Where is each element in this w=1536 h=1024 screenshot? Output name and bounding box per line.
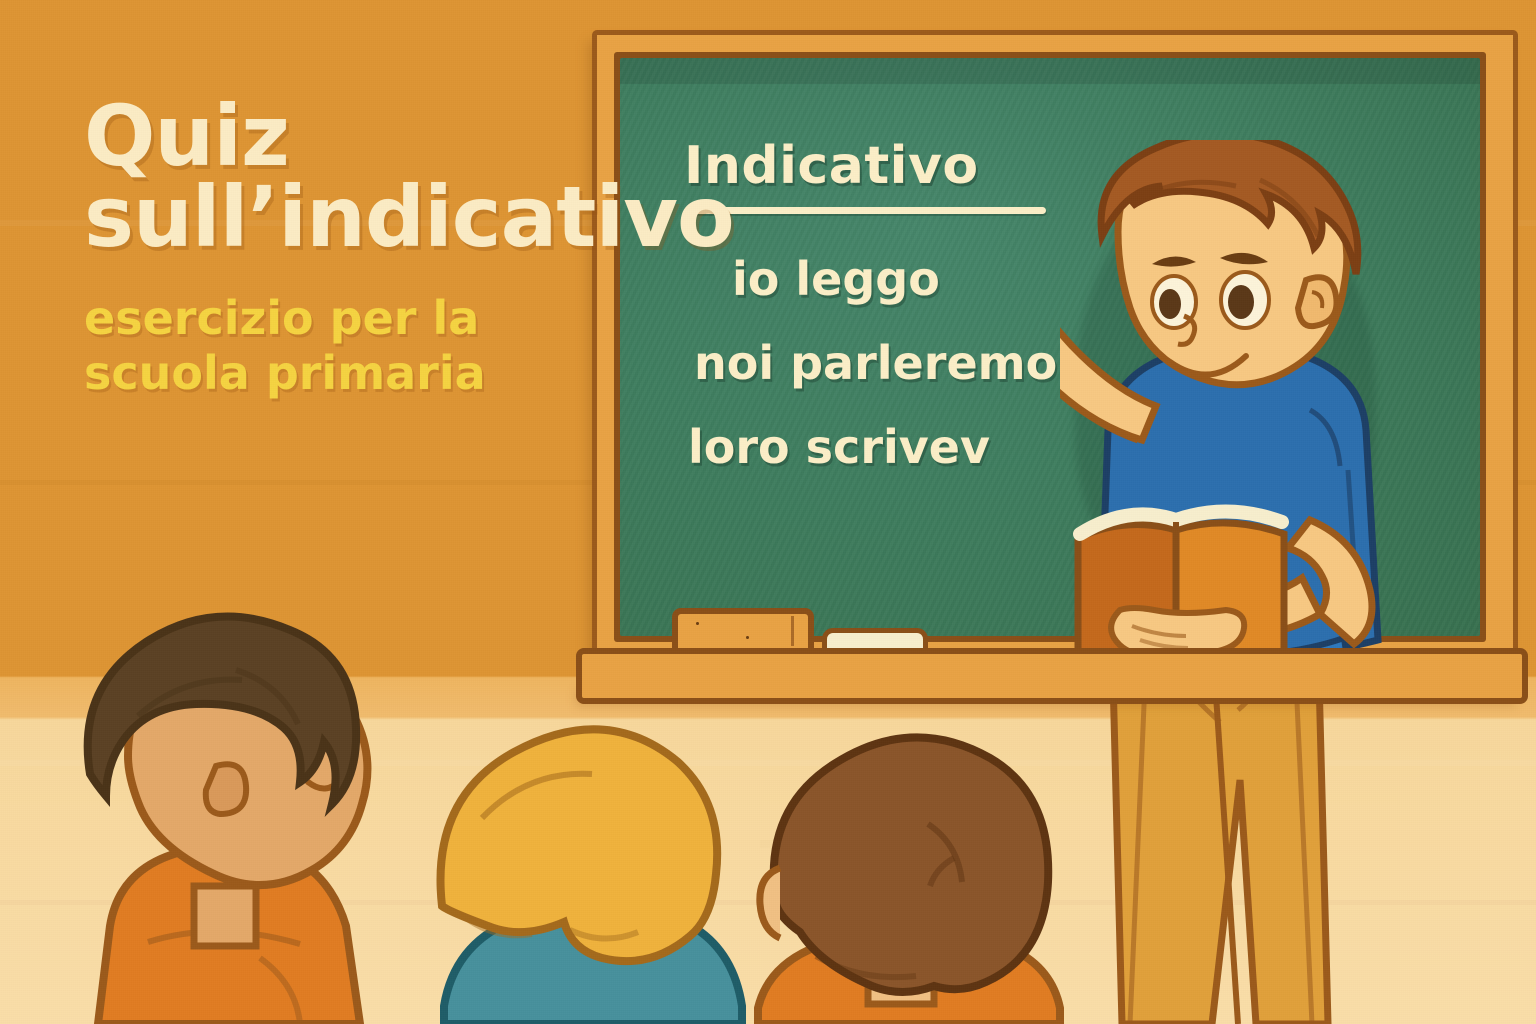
student-hair: [774, 737, 1049, 992]
page-subtitle: esercizio per la scuola primaria: [84, 291, 724, 400]
student-teal-shirt: [420, 700, 760, 1024]
chalkboard-ledge: [576, 648, 1528, 704]
page-subtitle-line-2: scuola primaria: [84, 346, 724, 400]
student-ear: [760, 868, 780, 938]
student-orange-shirt: [60, 596, 420, 1024]
page-subtitle-line-1: esercizio per la: [84, 291, 724, 345]
student-brown-hair: [728, 718, 1084, 1024]
chalkboard-top-shade: [620, 58, 1480, 84]
teacher-ear: [1298, 277, 1337, 326]
chalkboard-line-2: noi parleremo: [694, 336, 1057, 390]
teacher-figure: [1060, 140, 1460, 1024]
student-neck: [194, 886, 256, 946]
chalkboard-line-3: loro scrivev: [688, 420, 990, 474]
student-ear: [206, 764, 246, 814]
page-title-line-2: sull’indicativo: [84, 177, 724, 258]
teacher-head: [1101, 140, 1358, 385]
chalkboard-line-1: io leggo: [732, 252, 940, 306]
page-title: Quiz sull’indicativo: [84, 96, 724, 257]
page-title-line-1: Quiz: [84, 96, 724, 177]
headline-block: Quiz sull’indicativo esercizio per la sc…: [84, 96, 724, 400]
chalkboard-heading-underline: [686, 207, 1046, 214]
illustration-canvas: Indicativo io leggo noi parleremo loro s…: [0, 0, 1536, 1024]
